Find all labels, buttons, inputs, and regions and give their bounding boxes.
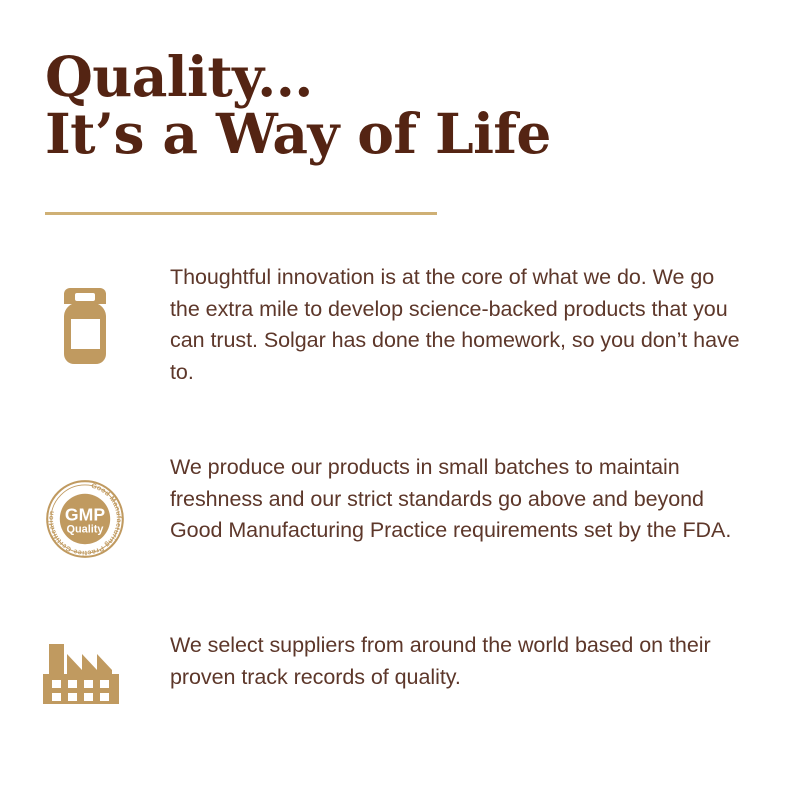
feature-list: Thoughtful innovation is at the core of … (0, 262, 800, 750)
title-divider (45, 212, 437, 215)
seal-center-quality: Quality (67, 523, 104, 535)
list-item: We select suppliers from around the worl… (0, 630, 800, 750)
feature-text-cell: Thoughtful innovation is at the core of … (170, 262, 800, 388)
page-title-line-2: It’s a Way of Life (45, 105, 745, 162)
factory-icon (41, 644, 129, 706)
feature-icon-cell: Good Manufacturing Practice Certificatio… (0, 452, 170, 561)
feature-text: We select suppliers from around the worl… (170, 630, 740, 693)
feature-icon-cell (0, 630, 170, 706)
list-item: Thoughtful innovation is at the core of … (0, 262, 800, 452)
quality-promise-panel: Quality... It’s a Way of Life (0, 0, 800, 800)
gmp-quality-seal-icon: Good Manufacturing Practice Certificatio… (43, 477, 127, 561)
page-title-line-1: Quality... (45, 48, 745, 105)
list-item: Good Manufacturing Practice Certificatio… (0, 452, 800, 630)
seal-center-gmp: GMP (65, 505, 105, 525)
feature-text-cell: We select suppliers from around the worl… (170, 630, 800, 693)
feature-icon-cell (0, 262, 170, 368)
supplement-bottle-icon (48, 286, 122, 368)
feature-text: Thoughtful innovation is at the core of … (170, 262, 740, 388)
page-title: Quality... It’s a Way of Life (45, 48, 745, 162)
feature-text: We produce our products in small batches… (170, 452, 740, 547)
feature-text-cell: We produce our products in small batches… (170, 452, 800, 547)
